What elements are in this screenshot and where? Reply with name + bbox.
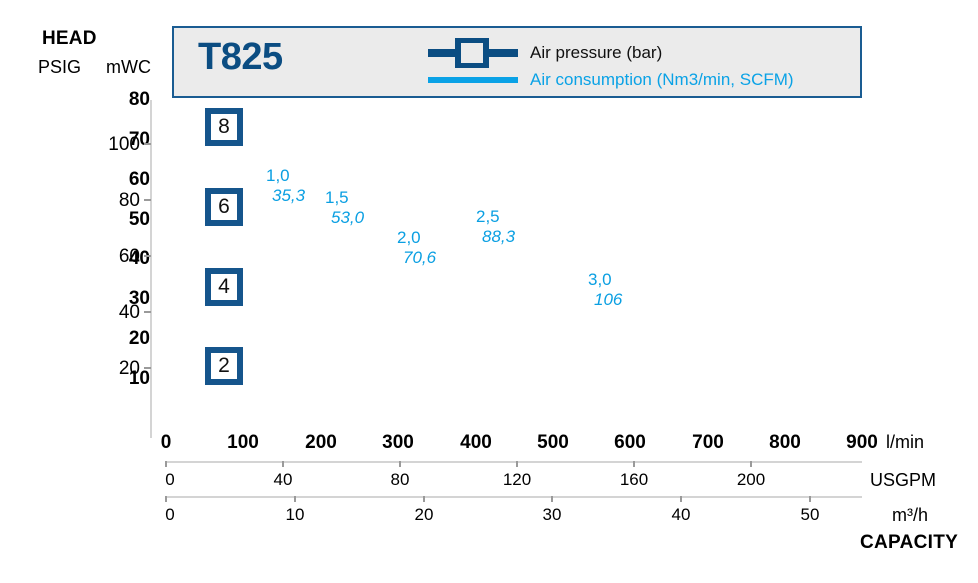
usgpm-tick-120: 120 xyxy=(503,470,531,490)
pressure-box-4: 4 xyxy=(205,268,243,306)
chart-root: HEAD PSIG mWC xyxy=(0,0,978,583)
usgpm-tick-40: 40 xyxy=(274,470,293,490)
consumption-label-1-5-bottom: 53,0 xyxy=(331,208,364,228)
m3h-tick-20: 20 xyxy=(415,505,434,525)
pressure-box-8: 8 xyxy=(205,108,243,146)
consumption-label-3-0-top: 3,0 xyxy=(588,270,622,290)
psig-tick-marks xyxy=(142,100,152,438)
usgpm-tick-0: 0 xyxy=(165,470,174,490)
lmin-tick-100: 100 xyxy=(227,432,259,454)
legend-pressure-symbol-icon xyxy=(428,38,518,68)
psig-tick-80: 80 xyxy=(88,190,140,212)
lmin-tick-700: 700 xyxy=(692,432,724,454)
lmin-tick-800: 800 xyxy=(769,432,801,454)
consumption-label-1-0: 1,0 35,3 xyxy=(266,166,305,206)
xaxis-unit-m3h: m³/h xyxy=(892,505,928,526)
legend-item-air-consumption: Air consumption (Nm3/min, SCFM) xyxy=(428,70,794,90)
m3h-tick-0: 0 xyxy=(165,505,174,525)
usgpm-tick-80: 80 xyxy=(391,470,410,490)
plot-background xyxy=(166,100,862,438)
pressure-box-6: 6 xyxy=(205,188,243,226)
consumption-label-1-5-top: 1,5 xyxy=(325,188,364,208)
consumption-label-2-5: 2,5 88,3 xyxy=(476,207,515,247)
psig-tick-20: 20 xyxy=(88,358,140,380)
lmin-tick-500: 500 xyxy=(537,432,569,454)
lmin-tick-0: 0 xyxy=(161,432,172,454)
psig-tick-40: 40 xyxy=(88,302,140,324)
psig-tick-60: 60 xyxy=(88,246,140,268)
legend-item-air-pressure: Air pressure (bar) xyxy=(428,38,662,68)
m3h-tick-marks xyxy=(160,490,870,502)
xaxis-unit-lmin: l/min xyxy=(886,432,924,453)
consumption-label-3-0: 3,0 106 xyxy=(588,270,622,310)
consumption-label-2-0: 2,0 70,6 xyxy=(397,228,436,268)
legend-label-air-consumption: Air consumption (Nm3/min, SCFM) xyxy=(530,70,794,90)
consumption-label-2-0-top: 2,0 xyxy=(397,228,436,248)
m3h-tick-30: 30 xyxy=(543,505,562,525)
usgpm-tick-160: 160 xyxy=(620,470,648,490)
consumption-label-2-5-top: 2,5 xyxy=(476,207,515,227)
lmin-tick-200: 200 xyxy=(305,432,337,454)
consumption-label-1-0-bottom: 35,3 xyxy=(272,186,305,206)
consumption-label-2-0-bottom: 70,6 xyxy=(403,248,436,268)
lmin-tick-600: 600 xyxy=(614,432,646,454)
capacity-axis-title: CAPACITY xyxy=(860,532,958,554)
mwc-axis-title: mWC xyxy=(106,57,151,78)
psig-tick-100: 100 xyxy=(88,134,140,156)
m3h-tick-40: 40 xyxy=(672,505,691,525)
consumption-label-2-5-bottom: 88,3 xyxy=(482,227,515,247)
xaxis-unit-usgpm: USGPM xyxy=(870,470,936,491)
m3h-tick-50: 50 xyxy=(801,505,820,525)
psig-axis-title: PSIG xyxy=(38,57,81,78)
lmin-tick-300: 300 xyxy=(382,432,414,454)
xaxis-m3h: 0 10 20 30 40 50 xyxy=(0,505,978,535)
consumption-label-1-0-top: 1,0 xyxy=(266,166,305,186)
legend-consumption-symbol-icon xyxy=(428,74,518,86)
usgpm-tick-marks xyxy=(160,455,870,467)
consumption-label-1-5: 1,5 53,0 xyxy=(325,188,364,228)
consumption-label-3-0-bottom: 106 xyxy=(594,290,622,310)
legend-label-air-pressure: Air pressure (bar) xyxy=(530,43,662,63)
usgpm-tick-200: 200 xyxy=(737,470,765,490)
pressure-box-2: 2 xyxy=(205,347,243,385)
head-axis-title: HEAD xyxy=(42,28,97,50)
lmin-tick-900: 900 xyxy=(846,432,878,454)
plot-area xyxy=(166,100,862,438)
lmin-tick-400: 400 xyxy=(460,432,492,454)
m3h-tick-10: 10 xyxy=(286,505,305,525)
model-title: T825 xyxy=(198,36,283,79)
